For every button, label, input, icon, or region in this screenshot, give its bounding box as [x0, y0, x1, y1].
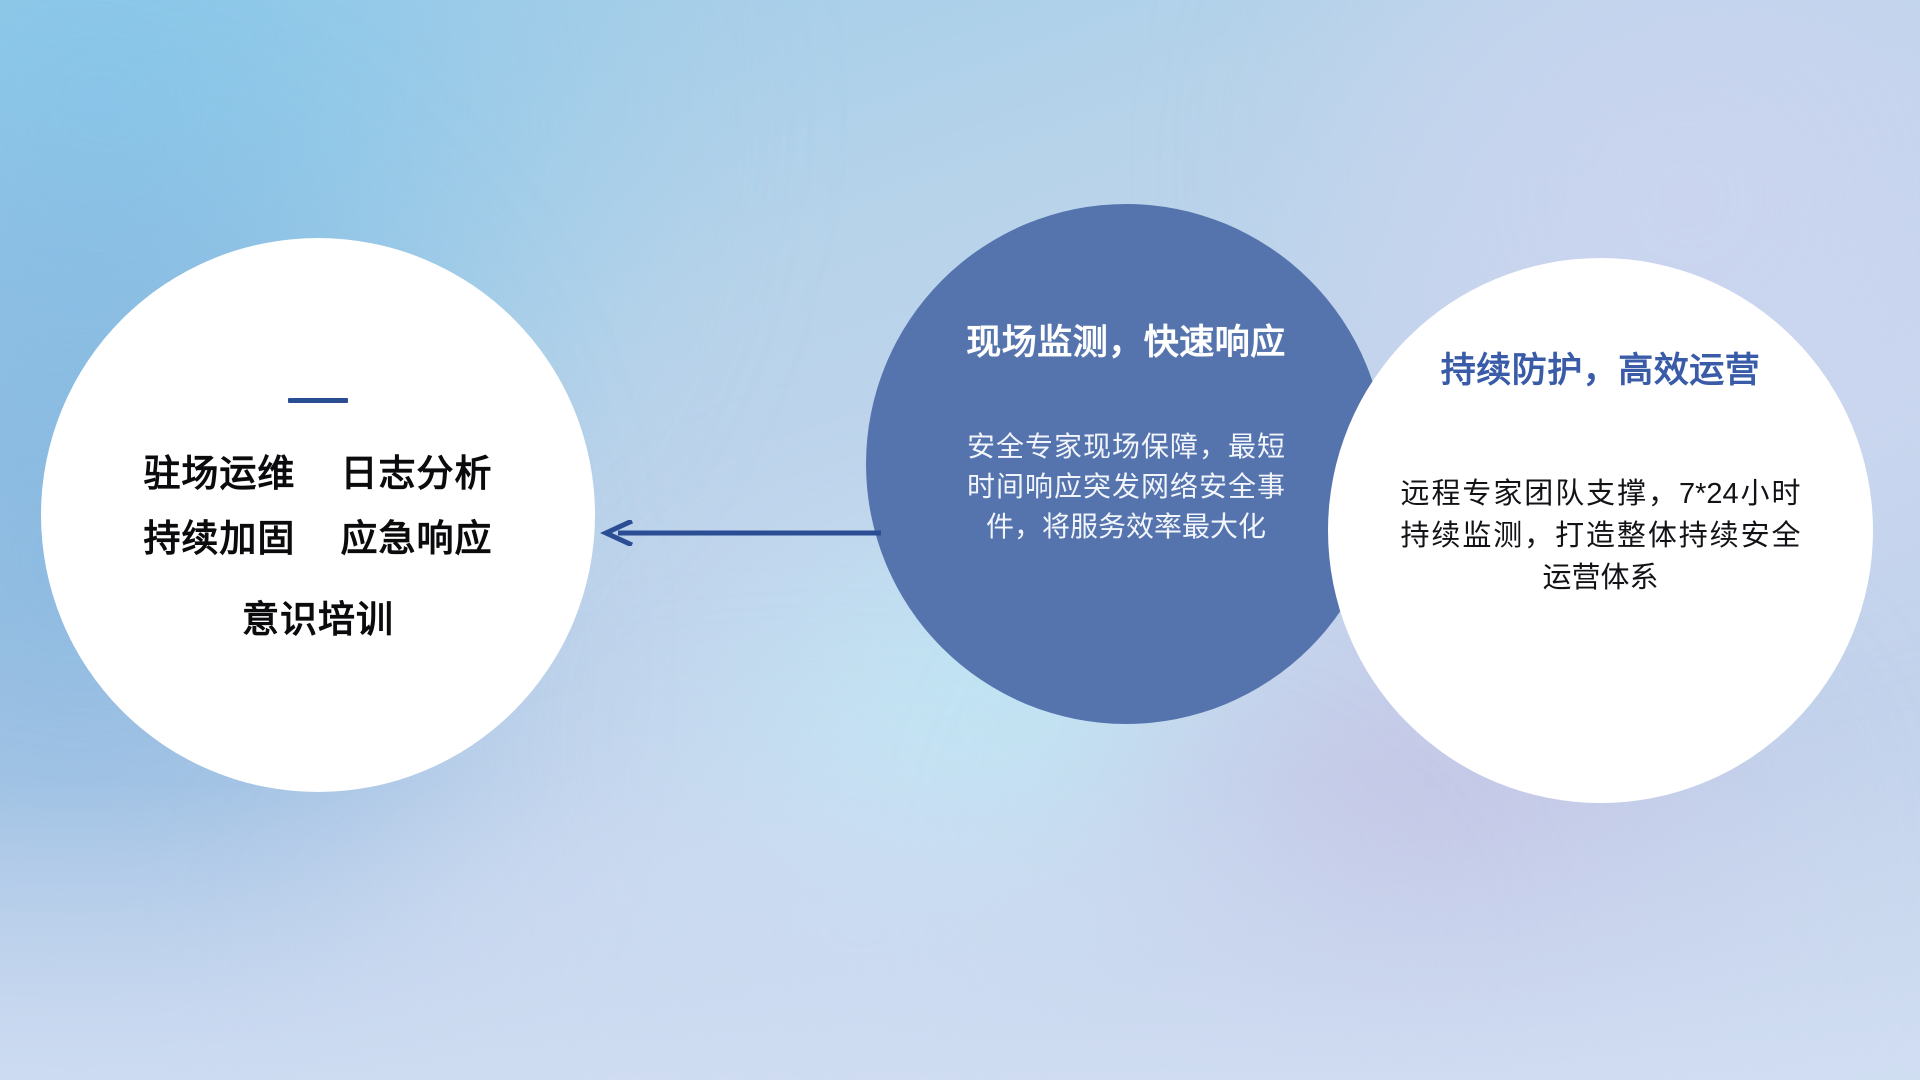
middle-circle-body: 安全专家现场保障，最短时间响应突发网络安全事件，将服务效率最大化 [967, 427, 1285, 546]
right-circle-body: 远程专家团队支撑，7*24小时持续监测，打造整体持续安全运营体系 [1401, 473, 1801, 599]
right-circle-content: 持续防护，高效运营 远程专家团队支撑，7*24小时持续监测，打造整体持续安全运营… [1328, 258, 1873, 803]
middle-circle-title: 现场监测，快速响应 [966, 314, 1286, 365]
left-circle-keyword-row: 意识培训 [143, 601, 492, 638]
background-bottom-fade [0, 780, 1920, 1080]
left-circle-keyword-row: 驻场运维 日志分析 [143, 455, 492, 492]
left-circle-content: 驻场运维 日志分析 持续加固 应急响应 意识培训 [41, 238, 595, 792]
left-circle-keyword-list: 驻场运维 日志分析 持续加固 应急响应 意识培训 [143, 455, 492, 638]
divider-dash-icon [288, 398, 348, 403]
middle-circle-content: 现场监测，快速响应 安全专家现场保障，最短时间响应突发网络安全事件，将服务效率最… [866, 204, 1386, 724]
slide-canvas: 现场监测，快速响应 安全专家现场保障，最短时间响应突发网络安全事件，将服务效率最… [0, 0, 1920, 1080]
middle-circle-card[interactable]: 现场监测，快速响应 安全专家现场保障，最短时间响应突发网络安全事件，将服务效率最… [866, 204, 1386, 724]
left-circle-card[interactable]: 驻场运维 日志分析 持续加固 应急响应 意识培训 [41, 238, 595, 792]
right-circle-card[interactable]: 持续防护，高效运营 远程专家团队支撑，7*24小时持续监测，打造整体持续安全运营… [1328, 258, 1873, 803]
flow-arrow-left-icon [596, 520, 881, 546]
left-circle-keyword-row: 持续加固 应急响应 [143, 520, 492, 557]
right-circle-title: 持续防护，高效运营 [1441, 342, 1761, 393]
